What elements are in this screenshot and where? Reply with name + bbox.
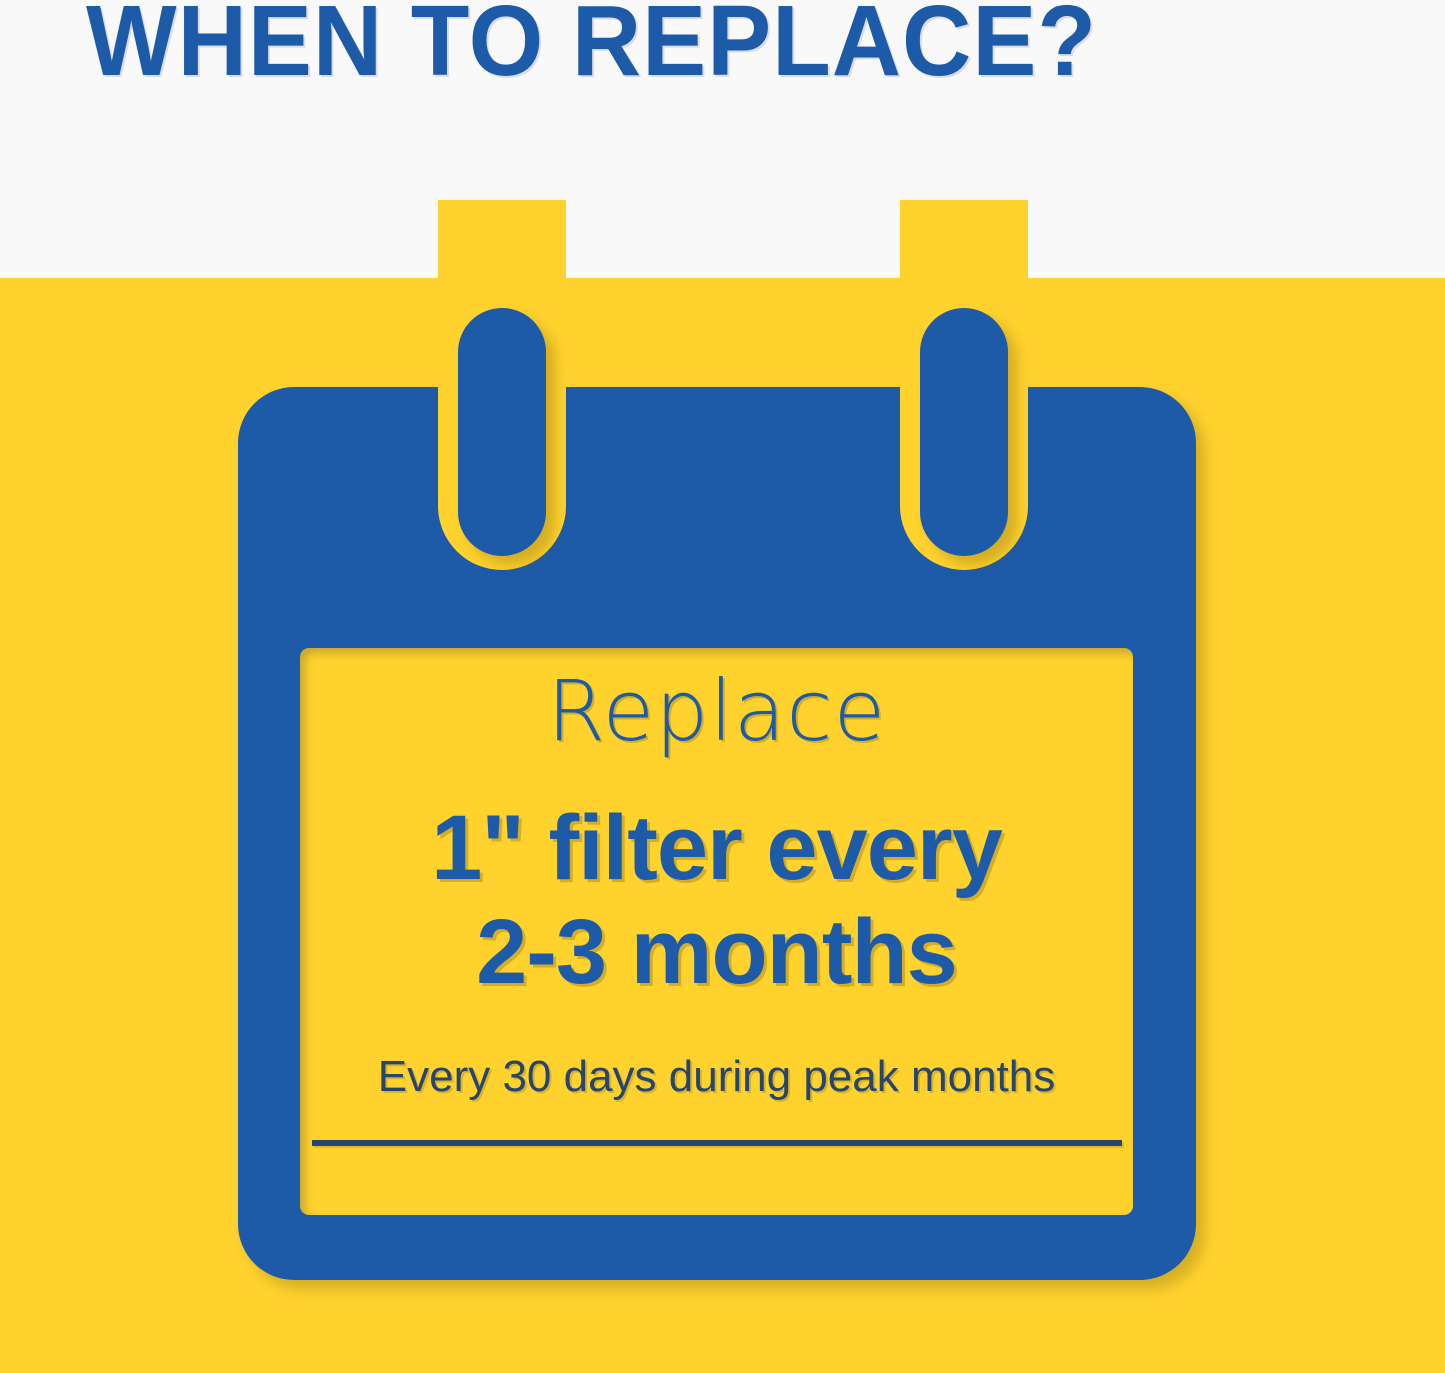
infographic-page: WHEN TO REPLACE? Replace 1" filter every…	[0, 0, 1445, 1373]
replace-eyebrow: Replace	[300, 662, 1133, 760]
replace-footnote: Every 30 days during peak months	[300, 1052, 1133, 1102]
replace-headline-line-2: 2-3 months	[300, 900, 1133, 1004]
replace-headline: 1" filter every 2-3 months	[300, 796, 1133, 1004]
replace-footnote-underline	[312, 1140, 1122, 1146]
calendar-text-block: Replace 1" filter every 2-3 months Every…	[300, 648, 1133, 1215]
calendar-ring-right	[920, 308, 1008, 556]
calendar-ring-left	[458, 308, 546, 556]
calendar-icon: Replace 1" filter every 2-3 months Every…	[238, 300, 1196, 1280]
replace-headline-line-1: 1" filter every	[431, 797, 1002, 899]
page-title: WHEN TO REPLACE?	[86, 0, 1097, 99]
